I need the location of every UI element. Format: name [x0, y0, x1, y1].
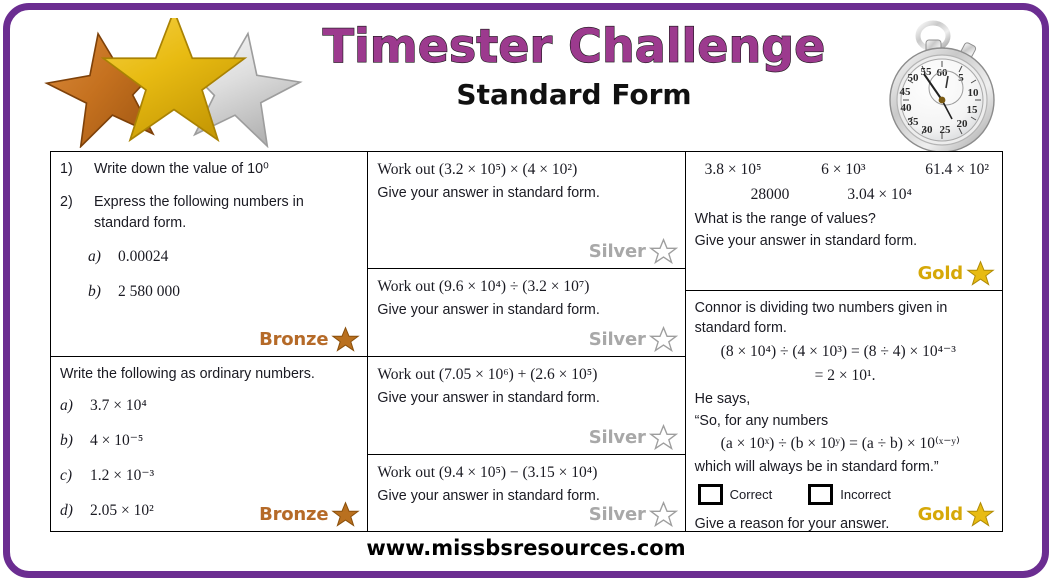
star-icon: [649, 238, 678, 265]
checkbox-correct[interactable]: [698, 484, 723, 505]
says-lead: He says,: [695, 389, 993, 409]
star-icon: [331, 501, 360, 528]
column-silver: Work out (3.2 × 10⁵) × (4 × 10²) Give yo…: [368, 152, 685, 531]
question-text: Express the following numbers in standar…: [94, 192, 358, 233]
question-cell-gold-2: Connor is dividing two numbers given in …: [686, 290, 1002, 531]
worksheet-page: Timester Challenge Standard Form: [0, 0, 1052, 581]
status-badge-gold: Gold: [918, 260, 995, 287]
spacer: [60, 421, 358, 430]
svg-text:15: 15: [967, 104, 979, 116]
question-text: Work out (9.6 × 10⁴) ÷ (3.2 × 10⁷): [377, 276, 675, 298]
question-text: Work out (7.05 × 10⁶) + (2.6 × 10⁵): [377, 364, 675, 386]
status-badge-silver: Silver: [589, 238, 678, 265]
sub-item-value: 4 × 10⁻⁵: [90, 430, 143, 452]
status-badge-silver: Silver: [589, 501, 678, 528]
worksheet-header: Timester Challenge Standard Form: [14, 10, 1038, 146]
question-cell-silver-3: Work out (7.05 × 10⁶) + (2.6 × 10⁵) Give…: [368, 356, 684, 454]
star-icon: [649, 326, 678, 353]
spacer: [60, 237, 358, 246]
svg-text:30: 30: [922, 124, 934, 136]
question-cell-silver-2: Work out (9.6 × 10⁴) ÷ (3.2 × 10⁷) Give …: [368, 268, 684, 356]
status-badge-bronze: Bronze: [259, 501, 360, 528]
value: 6 × 10³: [821, 159, 865, 181]
sub-item-label: d): [60, 500, 90, 522]
star-icon: [649, 501, 678, 528]
value: 28000: [751, 184, 790, 206]
column-bronze: 1) Write down the value of 10⁰ 2) Expres…: [51, 152, 368, 531]
star-icon: [966, 260, 995, 287]
stopwatch-icon: 60 5 10 15 20 25 30 35 40 45 50 55: [876, 18, 1016, 152]
svg-text:50: 50: [908, 72, 920, 84]
spacer: [60, 491, 358, 500]
sub-item: b) 4 × 10⁻⁵: [60, 430, 358, 452]
question-instruction: Give your answer in standard form.: [695, 231, 993, 251]
value-row: 28000 3.04 × 10⁴: [695, 184, 993, 206]
quote-formula: (a × 10ˣ) ÷ (b × 10ʸ) = (a ÷ b) × 10⁽ˣ⁻ʸ…: [695, 433, 993, 455]
quote-line: which will always be in standard form.”: [695, 457, 993, 477]
sub-item-value: 0.00024: [118, 246, 168, 268]
question-cell-gold-1: 3.8 × 10⁵ 6 × 10³ 61.4 × 10² 28000 3.04 …: [686, 152, 1002, 290]
question-intro: Connor is dividing two numbers given in …: [695, 298, 993, 339]
spacer: [60, 272, 358, 281]
page-title: Timester Challenge: [314, 22, 834, 70]
badge-label: Silver: [589, 239, 646, 265]
question-instruction: Give your answer in standard form.: [377, 183, 675, 203]
badge-label: Bronze: [259, 502, 328, 528]
question-cell-silver-1: Work out (3.2 × 10⁵) × (4 × 10²) Give yo…: [368, 152, 684, 268]
status-badge-gold: Gold: [918, 501, 995, 528]
quote-line: “So, for any numbers: [695, 411, 993, 431]
svg-text:10: 10: [968, 87, 980, 99]
column-gold: 3.8 × 10⁵ 6 × 10³ 61.4 × 10² 28000 3.04 …: [686, 152, 1002, 531]
title-block: Timester Challenge Standard Form: [314, 22, 834, 111]
question-text: Work out (3.2 × 10⁵) × (4 × 10²): [377, 159, 675, 181]
working-line: = 2 × 10¹.: [695, 365, 993, 387]
value: 3.8 × 10⁵: [705, 159, 762, 181]
three-stars-icon: [40, 18, 320, 148]
questions-grid: 1) Write down the value of 10⁰ 2) Expres…: [50, 151, 1003, 532]
checkbox-incorrect-label: Incorrect: [840, 486, 891, 504]
sub-item-label: a): [88, 246, 118, 268]
question-number: 1): [60, 159, 94, 179]
sub-item-value: 2 580 000: [118, 281, 180, 303]
badge-label: Silver: [589, 327, 646, 353]
question-cell-bronze-2: Write the following as ordinary numbers.…: [51, 356, 367, 531]
sub-item-value: 3.7 × 10⁴: [90, 395, 147, 417]
question-item: 2) Express the following numbers in stan…: [60, 192, 358, 233]
question-text: Write down the value of 10⁰: [94, 159, 269, 179]
badge-label: Bronze: [259, 327, 328, 353]
badge-label: Gold: [918, 502, 963, 528]
value-row: 3.8 × 10⁵ 6 × 10³ 61.4 × 10²: [695, 159, 993, 181]
sub-item-value: 1.2 × 10⁻³: [90, 465, 154, 487]
footer-url: www.missbsresources.com: [366, 536, 685, 560]
sub-item-label: a): [60, 395, 90, 417]
sub-item: a) 0.00024: [60, 246, 358, 268]
question-cell-bronze-1: 1) Write down the value of 10⁰ 2) Expres…: [51, 152, 367, 356]
badge-label: Silver: [589, 502, 646, 528]
question-prompt: Write the following as ordinary numbers.: [60, 364, 358, 384]
spacer: [60, 456, 358, 465]
star-icon: [331, 326, 360, 353]
question-text: Work out (9.4 × 10⁵) − (3.15 × 10⁴): [377, 462, 675, 484]
question-cell-silver-4: Work out (9.4 × 10⁵) − (3.15 × 10⁴) Give…: [368, 454, 684, 531]
sub-item-value: 2.05 × 10²: [90, 500, 154, 522]
sub-item-label: c): [60, 465, 90, 487]
status-badge-silver: Silver: [589, 424, 678, 451]
star-icon: [649, 424, 678, 451]
status-badge-bronze: Bronze: [259, 326, 360, 353]
badge-label: Silver: [589, 425, 646, 451]
value: 61.4 × 10²: [925, 159, 989, 181]
question-number: 2): [60, 192, 94, 233]
svg-text:25: 25: [940, 124, 952, 136]
svg-text:20: 20: [957, 118, 969, 130]
working-line: (8 × 10⁴) ÷ (4 × 10³) = (8 ÷ 4) × 10⁴⁻³: [695, 341, 993, 363]
value: 3.04 × 10⁴: [847, 184, 912, 206]
spacer: [60, 386, 358, 395]
sub-item: b) 2 580 000: [60, 281, 358, 303]
sub-item-label: b): [60, 430, 90, 452]
question-instruction: Give your answer in standard form.: [377, 388, 675, 408]
svg-text:40: 40: [901, 102, 913, 114]
status-badge-silver: Silver: [589, 326, 678, 353]
badge-label: Gold: [918, 261, 963, 287]
sub-item: c) 1.2 × 10⁻³: [60, 465, 358, 487]
checkbox-correct-label: Correct: [730, 486, 773, 504]
page-subtitle: Standard Form: [314, 78, 834, 111]
svg-text:35: 35: [908, 116, 920, 128]
svg-text:45: 45: [900, 86, 912, 98]
question-instruction: Give your answer in standard form.: [377, 300, 675, 320]
sub-item: a) 3.7 × 10⁴: [60, 395, 358, 417]
spacer: [60, 183, 358, 192]
checkbox-incorrect[interactable]: [808, 484, 833, 505]
question-item: 1) Write down the value of 10⁰: [60, 159, 358, 179]
sub-item-label: b): [88, 281, 118, 303]
star-icon: [966, 501, 995, 528]
footer: www.missbsresources.com: [0, 536, 1052, 560]
question-text: What is the range of values?: [695, 209, 993, 229]
